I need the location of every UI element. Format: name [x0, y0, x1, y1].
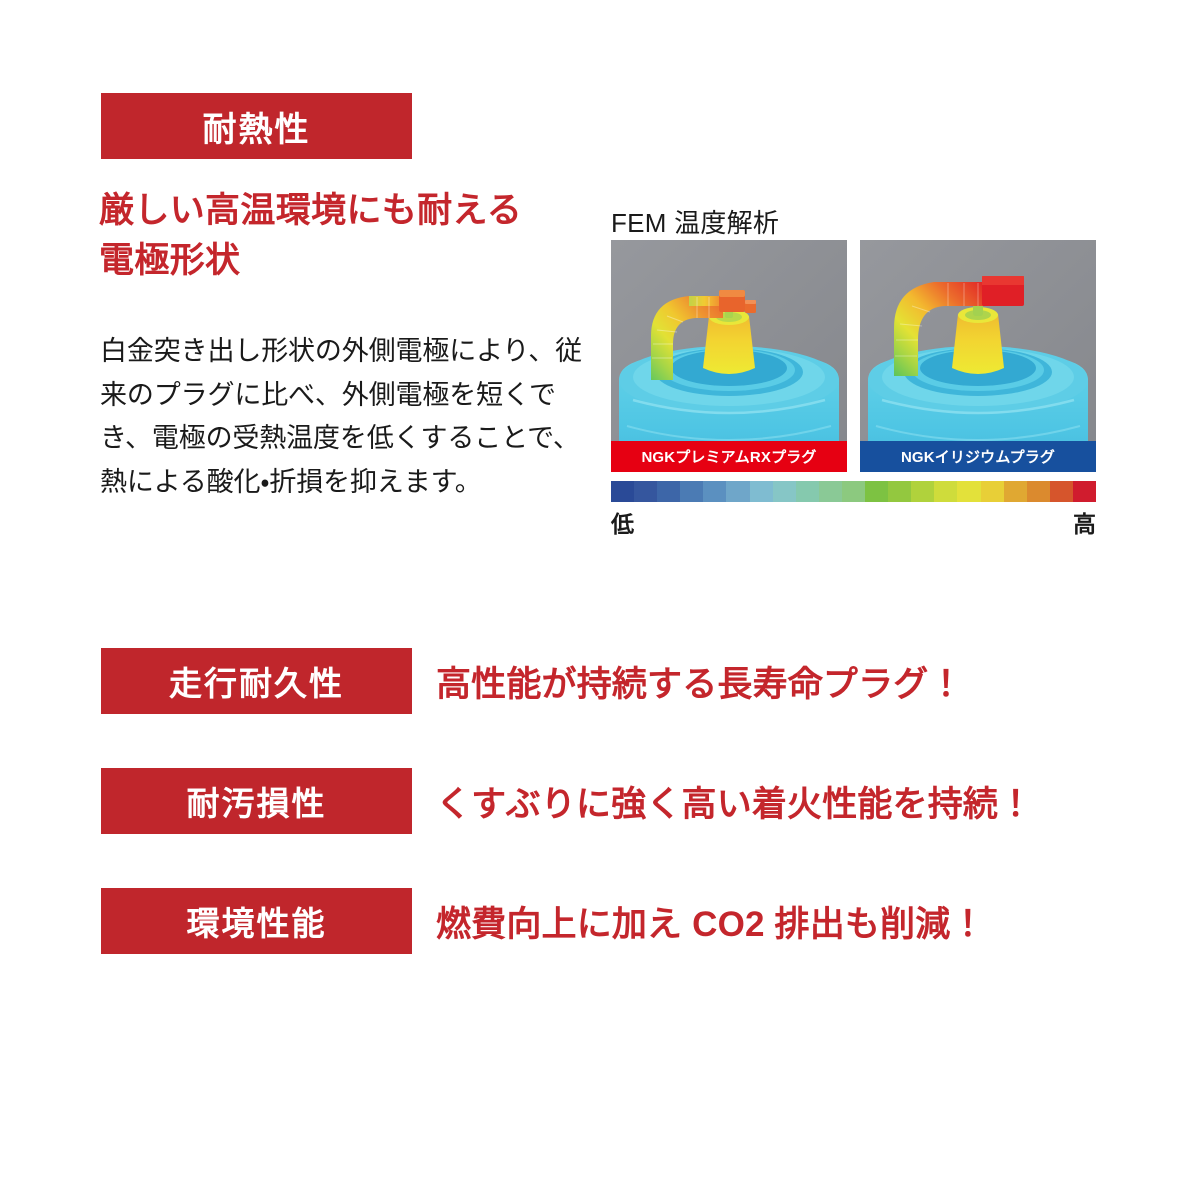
scale-band-4: [703, 481, 726, 502]
feature-text-fouling-resistance: くすぶりに強く高い着火性能を持続！: [436, 776, 1033, 827]
temperature-scale-bar: [611, 481, 1096, 502]
scale-band-12: [888, 481, 911, 502]
feature-text-environmental-performance: 燃費向上に加え CO2 排出も削減！: [436, 896, 986, 947]
scale-band-17: [1004, 481, 1027, 502]
scale-band-3: [680, 481, 703, 502]
feature-text-driving-durability: 高性能が持続する長寿命プラグ！: [436, 656, 964, 707]
heading-line-1: 厳しい高温環境にも耐える: [99, 186, 599, 236]
scale-band-1: [634, 481, 657, 502]
scale-high-label: 高: [1073, 505, 1096, 539]
heat-resistance-body-text: 白金突き出し形状の外側電極により、従来のプラグに比べ、外側電極を短くでき、電極の…: [100, 330, 592, 505]
thermal-render-premium-rx: [611, 240, 847, 472]
fem-panel-group: NGKプレミアムRXプラグ: [611, 240, 1096, 472]
feature-row-fouling: 耐汚損性 くすぶりに強く高い着火性能を持続！: [101, 768, 1101, 834]
scale-band-14: [934, 481, 957, 502]
thermal-render-iridium: [860, 240, 1096, 472]
scale-band-6: [750, 481, 773, 502]
scale-low-label: 低: [611, 505, 634, 539]
feature-row-durability: 走行耐久性 高性能が持続する長寿命プラグ！: [101, 648, 1101, 714]
fem-caption-premium-rx: NGKプレミアムRXプラグ: [611, 441, 847, 472]
fem-analysis-title: FEM 温度解析: [611, 203, 779, 240]
heat-resistance-heading: 厳しい高温環境にも耐える 電極形状: [99, 186, 599, 285]
badge-fouling-resistance: 耐汚損性: [101, 768, 412, 834]
badge-heat-resistance: 耐熱性: [101, 93, 412, 159]
scale-band-15: [957, 481, 980, 502]
feature-row-environment: 環境性能 燃費向上に加え CO2 排出も削減！: [101, 888, 1101, 954]
scale-band-11: [865, 481, 888, 502]
badge-driving-durability: 走行耐久性: [101, 648, 412, 714]
scale-band-19: [1050, 481, 1073, 502]
scale-band-2: [657, 481, 680, 502]
scale-band-9: [819, 481, 842, 502]
scale-band-20: [1073, 481, 1096, 502]
scale-band-16: [981, 481, 1004, 502]
scale-band-5: [726, 481, 749, 502]
scale-band-8: [796, 481, 819, 502]
scale-band-10: [842, 481, 865, 502]
fem-panel-premium-rx: NGKプレミアムRXプラグ: [611, 240, 847, 472]
badge-environmental-performance: 環境性能: [101, 888, 412, 954]
scale-band-18: [1027, 481, 1050, 502]
scale-band-13: [911, 481, 934, 502]
scale-band-0: [611, 481, 634, 502]
fem-panel-iridium: NGKイリジウムプラグ: [860, 240, 1096, 472]
temperature-scale: 低 高: [611, 481, 1096, 539]
heading-line-2: 電極形状: [99, 236, 599, 286]
temperature-scale-labels: 低 高: [611, 505, 1096, 539]
scale-band-7: [773, 481, 796, 502]
fem-caption-iridium: NGKイリジウムプラグ: [860, 441, 1096, 472]
